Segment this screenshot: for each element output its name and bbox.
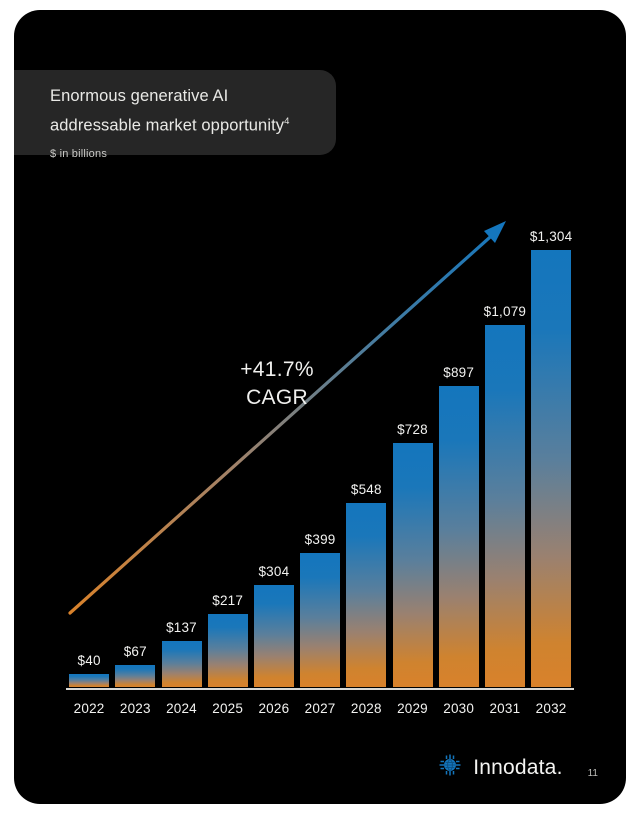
bar-value-label-2027: $399 xyxy=(285,532,355,547)
footer: Innodata. 11 xyxy=(438,753,598,782)
bar-value-label-2026: $304 xyxy=(239,564,309,579)
bar-value-label-2025: $217 xyxy=(193,593,263,608)
bar-value-label-2031: $1,079 xyxy=(470,304,540,319)
bar-value-label-2029: $728 xyxy=(377,422,447,437)
cagr-value: +41.7% xyxy=(212,356,342,384)
x-tick-2032: 2032 xyxy=(522,701,580,716)
bar-value-label-2028: $548 xyxy=(331,482,401,497)
bar-value-label-2032: $1,304 xyxy=(516,229,586,244)
x-axis-line xyxy=(66,688,574,690)
bar-value-label-2023: $67 xyxy=(100,644,170,659)
bar-value-label-2024: $137 xyxy=(146,620,216,635)
bar-2029 xyxy=(393,443,433,687)
bar-2028 xyxy=(346,503,386,687)
page-number: 11 xyxy=(588,768,598,779)
bar-2023 xyxy=(115,665,155,687)
innodata-chip-icon xyxy=(438,753,462,782)
brand-name: Innodata. xyxy=(473,756,562,780)
slide-panel: Enormous generative AI addressable marke… xyxy=(14,10,626,804)
bar-chart: +41.7% CAGR $40$67$137$217$304$399$548$7… xyxy=(14,10,626,804)
cagr-word: CAGR xyxy=(212,384,342,412)
bar-value-label-2030: $897 xyxy=(424,365,494,380)
bar-2022 xyxy=(69,674,109,687)
cagr-annotation: +41.7% CAGR xyxy=(212,356,342,412)
